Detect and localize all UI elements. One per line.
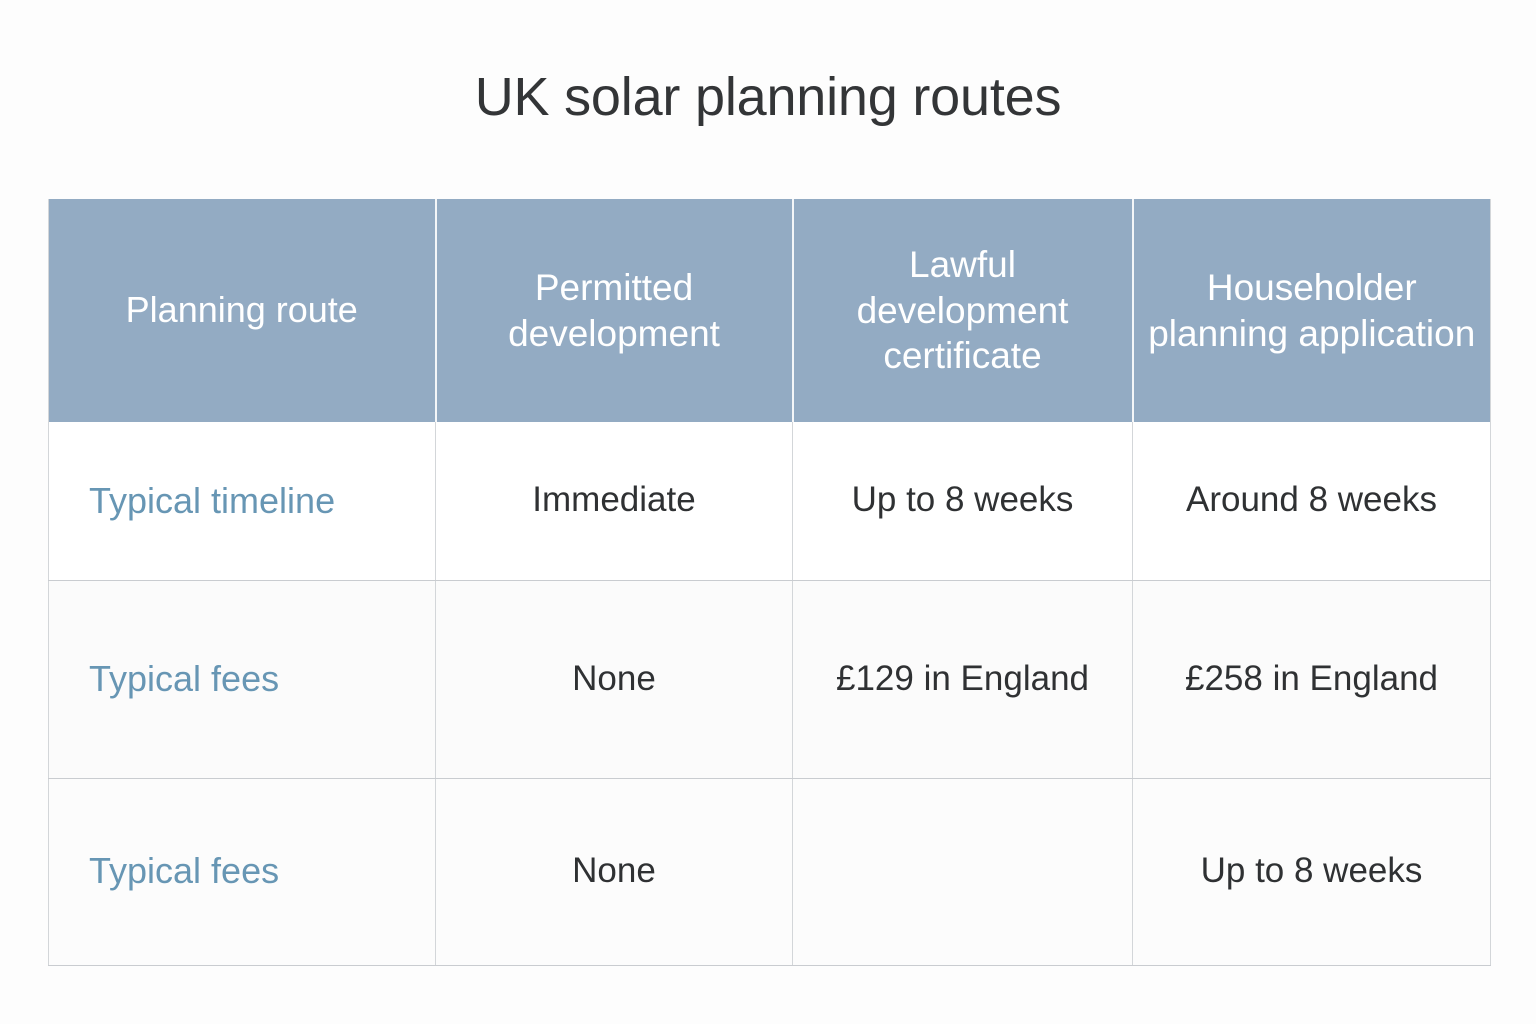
table-body: Typical timeline Immediate Up to 8 weeks… [49,422,1491,965]
cell-fees2-lawful-development-certificate [793,778,1133,965]
table-row: Typical fees None £129 in England £258 i… [49,580,1491,778]
cell-timeline-householder-planning: Around 8 weeks [1133,422,1491,580]
cell-timeline-lawful-development-certificate: Up to 8 weeks [793,422,1133,580]
table-figure: UK solar planning routes Planning route … [0,0,1536,1024]
cell-timeline-permitted-development: Immediate [436,422,793,580]
cell-fees-permitted-development: None [436,580,793,778]
cell-fees-householder-planning: £258 in England [1133,580,1491,778]
column-header-permitted-development: Permitted development [436,199,793,422]
comparison-table-wrapper: Planning route Permitted development Law… [48,199,1490,966]
cell-fees2-permitted-development: None [436,778,793,965]
planning-routes-table: Planning route Permitted development Law… [48,199,1491,966]
row-label-typical-fees-secondary: Typical fees [49,778,436,965]
column-header-lawful-development-certificate: Lawful development certificate [793,199,1133,422]
row-label-typical-timeline: Typical timeline [49,422,436,580]
cell-fees-lawful-development-certificate: £129 in England [793,580,1133,778]
column-header-householder-planning-application: Householder planning application [1133,199,1491,422]
table-row: Typical timeline Immediate Up to 8 weeks… [49,422,1491,580]
table-header: Planning route Permitted development Law… [49,199,1491,422]
column-header-planning-route: Planning route [49,199,436,422]
page-title: UK solar planning routes [0,66,1536,128]
row-label-typical-fees: Typical fees [49,580,436,778]
header-row: Planning route Permitted development Law… [49,199,1491,422]
table-row: Typical fees None Up to 8 weeks [49,778,1491,965]
cell-fees2-householder-planning: Up to 8 weeks [1133,778,1491,965]
